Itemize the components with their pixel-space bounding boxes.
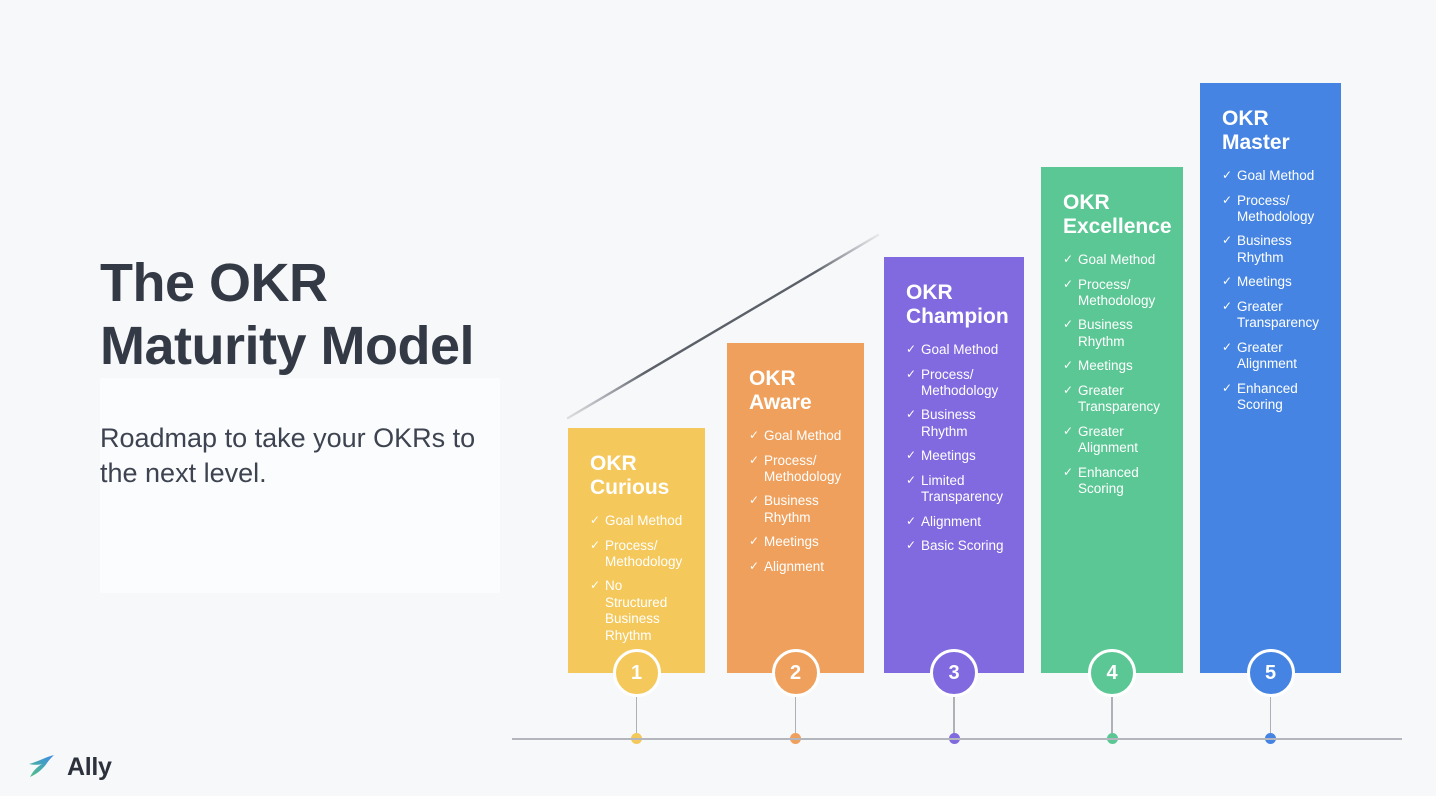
ally-swoosh-logo-icon <box>24 748 58 787</box>
ally-wordmark: Ally <box>67 753 112 782</box>
stage-feature-item: ✓Process/ Methodology <box>590 538 685 571</box>
stage-feature-item: ✓Meetings <box>1222 274 1321 290</box>
stage-feature-item: ✓Greater Transparency <box>1063 383 1163 416</box>
stage-feature-label: Meetings <box>764 534 819 549</box>
stage-feature-item: ✓Limited Transparency <box>906 473 1004 506</box>
check-icon: ✓ <box>906 367 916 382</box>
stage-feature-item: ✓Business Rhythm <box>1222 233 1321 266</box>
stage-feature-item: ✓Process/ Methodology <box>906 367 1004 400</box>
stage-feature-list: ✓Goal Method✓Process/ Methodology✓Busine… <box>749 428 844 575</box>
stage-feature-item: ✓Goal Method <box>906 342 1004 358</box>
check-icon: ✓ <box>1222 381 1232 396</box>
stage-feature-label: Greater Transparency <box>1078 383 1160 414</box>
stage-feature-label: Process/ Methodology <box>1078 277 1155 308</box>
stage-feature-item: ✓Goal Method <box>1222 168 1321 184</box>
check-icon: ✓ <box>906 473 916 488</box>
stage-column-2[interactable]: OKR Aware✓Goal Method✓Process/ Methodolo… <box>727 343 864 673</box>
stage-feature-list: ✓Goal Method✓Process/ Methodology✓Busine… <box>906 342 1004 555</box>
stage-feature-label: Meetings <box>1237 274 1292 289</box>
stage-feature-label: Goal Method <box>605 513 682 528</box>
stage-feature-item: ✓Business Rhythm <box>1063 317 1163 350</box>
timeline-axis <box>512 738 1402 740</box>
stage-feature-item: ✓Basic Scoring <box>906 538 1004 554</box>
check-icon: ✓ <box>906 407 916 422</box>
stage-number-badge-4[interactable]: 4 <box>1088 649 1136 697</box>
stage-number-badge-3[interactable]: 3 <box>930 649 978 697</box>
check-icon: ✓ <box>749 453 759 468</box>
page-subtitle: Roadmap to take your OKRs to the next le… <box>100 421 500 490</box>
stage-feature-label: Greater Alignment <box>1078 424 1138 455</box>
stage-feature-item: ✓Meetings <box>906 448 1004 464</box>
check-icon: ✓ <box>749 559 759 574</box>
stage-column-3[interactable]: OKR Champion✓Goal Method✓Process/ Method… <box>884 257 1024 673</box>
stage-feature-label: Enhanced Scoring <box>1078 465 1139 496</box>
stage-feature-item: ✓Goal Method <box>1063 252 1163 268</box>
stage-column-4[interactable]: OKR Excellence✓Goal Method✓Process/ Meth… <box>1041 167 1183 673</box>
stage-number-label: 1 <box>631 662 642 685</box>
stage-feature-list: ✓Goal Method✓Process/ Methodology✓Busine… <box>1063 252 1163 498</box>
stage-title: OKR Aware <box>749 367 844 414</box>
stage-feature-item: ✓No Structured Business Rhythm <box>590 578 685 644</box>
check-icon: ✓ <box>1063 317 1073 332</box>
stage-feature-item: ✓Business Rhythm <box>906 407 1004 440</box>
check-icon: ✓ <box>906 448 916 463</box>
check-icon: ✓ <box>1063 358 1073 373</box>
stage-feature-label: Greater Alignment <box>1237 340 1297 371</box>
stage-feature-label: Meetings <box>921 448 976 463</box>
stage-feature-label: Business Rhythm <box>764 493 819 524</box>
stage-feature-label: No Structured Business Rhythm <box>605 578 667 642</box>
check-icon: ✓ <box>1063 277 1073 292</box>
stage-feature-label: Goal Method <box>764 428 841 443</box>
stage-number-label: 2 <box>790 662 801 685</box>
stage-feature-item: ✓Greater Transparency <box>1222 299 1321 332</box>
check-icon: ✓ <box>1222 233 1232 248</box>
stage-feature-label: Limited Transparency <box>921 473 1003 504</box>
stage-feature-item: ✓Greater Alignment <box>1063 424 1163 457</box>
stage-feature-item: ✓Enhanced Scoring <box>1063 465 1163 498</box>
check-icon: ✓ <box>590 578 600 593</box>
check-icon: ✓ <box>906 538 916 553</box>
stage-feature-label: Enhanced Scoring <box>1237 381 1298 412</box>
stage-feature-item: ✓Business Rhythm <box>749 493 844 526</box>
check-icon: ✓ <box>1063 383 1073 398</box>
check-icon: ✓ <box>1063 252 1073 267</box>
stage-title: OKR Master <box>1222 107 1321 154</box>
check-icon: ✓ <box>749 428 759 443</box>
check-icon: ✓ <box>1063 465 1073 480</box>
stage-feature-item: ✓Goal Method <box>590 513 685 529</box>
check-icon: ✓ <box>749 493 759 508</box>
stage-number-label: 5 <box>1265 662 1276 685</box>
stage-number-badge-1[interactable]: 1 <box>613 649 661 697</box>
stage-feature-label: Process/ Methodology <box>921 367 998 398</box>
stage-number-badge-5[interactable]: 5 <box>1247 649 1295 697</box>
check-icon: ✓ <box>1063 424 1073 439</box>
stage-feature-label: Meetings <box>1078 358 1133 373</box>
stage-feature-item: ✓Enhanced Scoring <box>1222 381 1321 414</box>
page-title-line-1: The OKR <box>100 252 660 315</box>
stage-column-1[interactable]: OKR Curious✓Goal Method✓Process/ Methodo… <box>568 428 705 673</box>
ally-logo: Ally <box>24 748 112 787</box>
stage-feature-label: Basic Scoring <box>921 538 1004 553</box>
check-icon: ✓ <box>906 342 916 357</box>
check-icon: ✓ <box>1222 299 1232 314</box>
stage-title: OKR Excellence <box>1063 191 1163 238</box>
stage-number-label: 3 <box>948 662 959 685</box>
stage-feature-item: ✓Process/ Methodology <box>749 453 844 486</box>
stage-feature-label: Greater Transparency <box>1237 299 1319 330</box>
stage-column-5[interactable]: OKR Master✓Goal Method✓Process/ Methodol… <box>1200 83 1341 673</box>
stage-feature-label: Alignment <box>921 514 981 529</box>
check-icon: ✓ <box>1222 340 1232 355</box>
check-icon: ✓ <box>590 538 600 553</box>
stage-title: OKR Curious <box>590 452 685 499</box>
stage-feature-item: ✓Greater Alignment <box>1222 340 1321 373</box>
stage-feature-list: ✓Goal Method✓Process/ Methodology✓No Str… <box>590 513 685 644</box>
check-icon: ✓ <box>1222 168 1232 183</box>
stage-number-label: 4 <box>1106 662 1117 685</box>
stage-feature-item: ✓Process/ Methodology <box>1063 277 1163 310</box>
stage-feature-list: ✓Goal Method✓Process/ Methodology✓Busine… <box>1222 168 1321 414</box>
stage-feature-label: Goal Method <box>921 342 998 357</box>
stage-feature-label: Business Rhythm <box>1237 233 1292 264</box>
stage-feature-item: ✓Meetings <box>749 534 844 550</box>
page-title-line-2: Maturity Model <box>100 315 660 378</box>
stage-feature-item: ✓Goal Method <box>749 428 844 444</box>
stage-feature-label: Alignment <box>764 559 824 574</box>
stage-feature-label: Goal Method <box>1078 252 1155 267</box>
check-icon: ✓ <box>749 534 759 549</box>
stage-feature-item: ✓Alignment <box>906 514 1004 530</box>
stage-feature-label: Goal Method <box>1237 168 1314 183</box>
stage-feature-label: Business Rhythm <box>1078 317 1133 348</box>
stage-feature-item: ✓Process/ Methodology <box>1222 193 1321 226</box>
stage-number-badge-2[interactable]: 2 <box>772 649 820 697</box>
check-icon: ✓ <box>590 513 600 528</box>
check-icon: ✓ <box>906 514 916 529</box>
stage-feature-label: Process/ Methodology <box>1237 193 1314 224</box>
check-icon: ✓ <box>1222 193 1232 208</box>
stage-title: OKR Champion <box>906 281 1004 328</box>
stage-feature-label: Business Rhythm <box>921 407 976 438</box>
check-icon: ✓ <box>1222 274 1232 289</box>
stage-feature-label: Process/ Methodology <box>605 538 682 569</box>
infographic-canvas: The OKR Maturity Model Roadmap to take y… <box>0 0 1436 796</box>
stage-feature-item: ✓Meetings <box>1063 358 1163 374</box>
stage-feature-label: Process/ Methodology <box>764 453 841 484</box>
stage-feature-item: ✓Alignment <box>749 559 844 575</box>
